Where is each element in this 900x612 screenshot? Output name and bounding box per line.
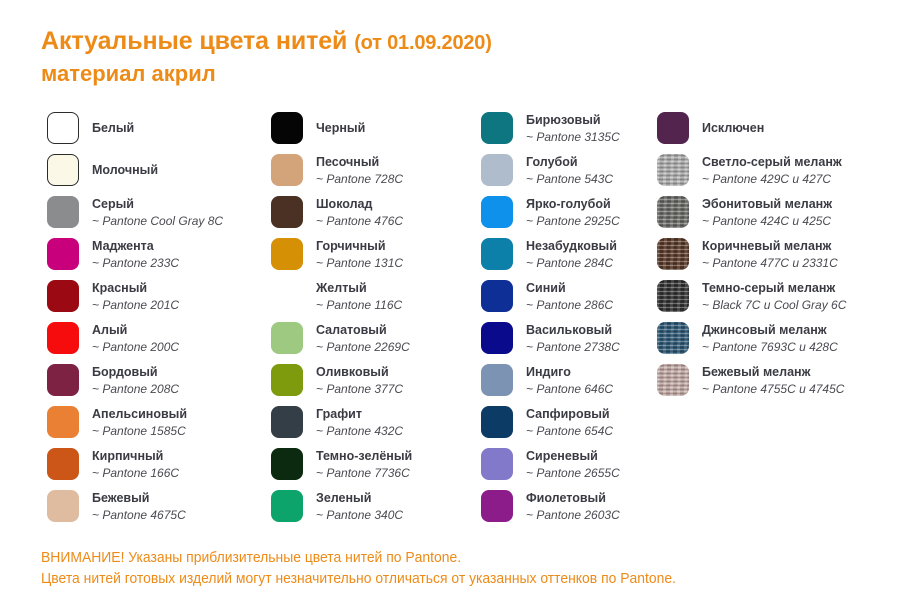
swatch-labels: Красный~ Pantone 201C bbox=[92, 280, 179, 313]
swatch-pantone-code: ~ Pantone 728C bbox=[316, 171, 403, 187]
swatch-name: Голубой bbox=[526, 154, 613, 170]
color-swatch[interactable] bbox=[47, 448, 79, 480]
swatch-row[interactable]: Голубой~ Pantone 543C bbox=[481, 149, 656, 191]
color-swatch[interactable] bbox=[481, 364, 513, 396]
swatch-pantone-code: ~ Pantone 4755C и 4745C bbox=[702, 381, 844, 397]
swatch-pantone-code: ~ Pantone 4675C bbox=[92, 507, 186, 523]
swatch-name: Шоколад bbox=[316, 196, 403, 212]
swatch-row[interactable]: Шоколад~ Pantone 476C bbox=[271, 191, 476, 233]
swatch-labels: Синий~ Pantone 286C bbox=[526, 280, 613, 313]
swatch-labels: Светло-серый меланж~ Pantone 429C и 427C bbox=[702, 154, 842, 187]
color-swatch[interactable] bbox=[481, 112, 513, 144]
swatch-pantone-code: ~ Pantone 477C и 2331C bbox=[702, 255, 838, 271]
swatch-name: Индиго bbox=[526, 364, 613, 380]
swatch-name: Синий bbox=[526, 280, 613, 296]
swatch-labels: Бирюзовый~ Pantone 3135C bbox=[526, 112, 620, 145]
swatch-pantone-code: ~ Pantone 432C bbox=[316, 423, 403, 439]
swatch-labels: Сиреневый~ Pantone 2655C bbox=[526, 448, 620, 481]
swatch-name: Эбонитовый меланж bbox=[702, 196, 832, 212]
color-swatch[interactable] bbox=[47, 196, 79, 228]
swatch-labels: Зеленый~ Pantone 340C bbox=[316, 490, 403, 523]
swatch-labels: Незабудковый~ Pantone 284C bbox=[526, 238, 617, 271]
swatch-labels: Желтый~ Pantone 116C bbox=[316, 280, 402, 313]
swatch-name: Горчичный bbox=[316, 238, 403, 254]
swatch-name: Черный bbox=[316, 120, 365, 136]
swatch-pantone-code: ~ Pantone 2655C bbox=[526, 465, 620, 481]
swatch-pantone-code: ~ Pantone 2738C bbox=[526, 339, 620, 355]
color-swatch[interactable] bbox=[47, 280, 79, 312]
swatch-row[interactable]: Джинсовый меланж~ Pantone 7693C и 428C bbox=[657, 317, 897, 359]
swatch-row[interactable]: Горчичный~ Pantone 131C bbox=[271, 233, 476, 275]
swatch-labels: Сапфировый~ Pantone 654C bbox=[526, 406, 613, 439]
color-swatch[interactable] bbox=[271, 448, 303, 480]
color-swatch[interactable] bbox=[657, 196, 689, 228]
swatch-labels: Темно-зелёный~ Pantone 7736C bbox=[316, 448, 412, 481]
swatch-name: Темно-зелёный bbox=[316, 448, 412, 464]
color-swatch[interactable] bbox=[47, 154, 79, 186]
page-title-date: (от 01.09.2020) bbox=[354, 32, 492, 54]
footer-warning-line-1: ВНИМАНИЕ! Указаны приблизительные цвета … bbox=[41, 548, 838, 569]
swatch-name: Белый bbox=[92, 120, 134, 136]
swatch-row[interactable]: Бордовый~ Pantone 208C bbox=[47, 359, 262, 401]
swatch-row[interactable]: Маджента~ Pantone 233C bbox=[47, 233, 262, 275]
swatch-labels: Горчичный~ Pantone 131C bbox=[316, 238, 403, 271]
swatch-row[interactable]: Красный~ Pantone 201C bbox=[47, 275, 262, 317]
swatch-name: Маджента bbox=[92, 238, 179, 254]
swatch-row[interactable]: Эбонитовый меланж~ Pantone 424C и 425C bbox=[657, 191, 897, 233]
color-swatch[interactable] bbox=[271, 280, 303, 312]
swatch-labels: Индиго~ Pantone 646C bbox=[526, 364, 613, 397]
swatch-row[interactable]: Исключен bbox=[657, 107, 897, 149]
page-title: Актуальные цвета нитей (от 01.09.2020) bbox=[41, 27, 861, 58]
color-swatch[interactable] bbox=[481, 238, 513, 270]
color-swatch[interactable] bbox=[271, 406, 303, 438]
swatch-name: Фиолетовый bbox=[526, 490, 620, 506]
swatch-pantone-code: ~ Pantone 429C и 427C bbox=[702, 171, 842, 187]
page-footer: ВНИМАНИЕ! Указаны приблизительные цвета … bbox=[41, 548, 871, 590]
swatch-name: Светло-серый меланж bbox=[702, 154, 842, 170]
swatch-row[interactable]: Фиолетовый~ Pantone 2603C bbox=[481, 485, 656, 527]
page-title-main: Актуальные цвета нитей bbox=[41, 27, 347, 55]
swatch-labels: Песочный~ Pantone 728C bbox=[316, 154, 403, 187]
swatch-pantone-code: ~ Pantone 646C bbox=[526, 381, 613, 397]
swatch-name: Алый bbox=[92, 322, 179, 338]
swatch-pantone-code: ~ Pantone 424C и 425C bbox=[702, 213, 832, 229]
swatch-pantone-code: ~ Pantone 2269C bbox=[316, 339, 410, 355]
swatch-name: Сапфировый bbox=[526, 406, 613, 422]
swatch-pantone-code: ~ Pantone 1585C bbox=[92, 423, 187, 439]
footer-warning-line-2: Цвета нитей готовых изделий могут незнач… bbox=[41, 569, 838, 590]
swatch-row[interactable]: Бежевый меланж~ Pantone 4755C и 4745C bbox=[657, 359, 897, 401]
swatch-name: Красный bbox=[92, 280, 179, 296]
swatch-pantone-code: ~ Pantone 340C bbox=[316, 507, 403, 523]
color-swatch[interactable] bbox=[47, 490, 79, 522]
color-swatch[interactable] bbox=[657, 280, 689, 312]
color-swatch[interactable] bbox=[47, 322, 79, 354]
swatch-pantone-code: ~ Pantone 377C bbox=[316, 381, 403, 397]
swatch-labels: Алый~ Pantone 200C bbox=[92, 322, 179, 355]
swatch-pantone-code: ~ Pantone 208C bbox=[92, 381, 179, 397]
swatch-name: Бирюзовый bbox=[526, 112, 620, 128]
swatch-name: Молочный bbox=[92, 162, 158, 178]
swatch-labels: Графит~ Pantone 432C bbox=[316, 406, 403, 439]
swatch-pantone-code: ~ Pantone 2603C bbox=[526, 507, 620, 523]
swatch-row[interactable]: Зеленый~ Pantone 340C bbox=[271, 485, 476, 527]
swatch-row[interactable]: Индиго~ Pantone 646C bbox=[481, 359, 656, 401]
color-swatch[interactable] bbox=[657, 112, 689, 144]
swatch-name: Темно-серый меланж bbox=[702, 280, 846, 296]
swatch-name: Оливковый bbox=[316, 364, 403, 380]
swatch-name: Бежевый bbox=[92, 490, 186, 506]
swatch-pantone-code: ~ Pantone 286C bbox=[526, 297, 613, 313]
swatch-row[interactable]: Коричневый меланж~ Pantone 477C и 2331C bbox=[657, 233, 897, 275]
swatch-row[interactable]: Серый~ Pantone Cool Gray 8C bbox=[47, 191, 262, 233]
color-swatch[interactable] bbox=[271, 196, 303, 228]
swatch-pantone-code: ~ Pantone Cool Gray 8C bbox=[92, 213, 223, 229]
swatch-labels: Васильковый~ Pantone 2738C bbox=[526, 322, 620, 355]
color-swatch[interactable] bbox=[657, 238, 689, 270]
swatch-column-3: Бирюзовый~ Pantone 3135CГолубой~ Pantone… bbox=[481, 107, 656, 527]
swatch-row[interactable]: Молочный bbox=[47, 149, 262, 191]
color-swatch[interactable] bbox=[271, 238, 303, 270]
swatch-name: Джинсовый меланж bbox=[702, 322, 838, 338]
color-swatch[interactable] bbox=[271, 154, 303, 186]
color-swatch[interactable] bbox=[47, 406, 79, 438]
swatch-row[interactable]: Песочный~ Pantone 728C bbox=[271, 149, 476, 191]
color-swatch[interactable] bbox=[271, 112, 303, 144]
swatch-name: Коричневый меланж bbox=[702, 238, 838, 254]
swatch-row[interactable]: Незабудковый~ Pantone 284C bbox=[481, 233, 656, 275]
swatch-pantone-code: ~ Pantone 201C bbox=[92, 297, 179, 313]
swatch-labels: Молочный bbox=[92, 162, 158, 178]
swatch-pantone-code: ~ Pantone 3135C bbox=[526, 129, 620, 145]
swatch-name: Серый bbox=[92, 196, 223, 212]
swatch-pantone-code: ~ Pantone 476C bbox=[316, 213, 403, 229]
swatch-pantone-code: ~ Black 7C и Cool Gray 6C bbox=[702, 297, 846, 313]
swatch-pantone-code: ~ Pantone 284C bbox=[526, 255, 617, 271]
swatch-pantone-code: ~ Pantone 7693C и 428C bbox=[702, 339, 838, 355]
swatch-row[interactable]: Светло-серый меланж~ Pantone 429C и 427C bbox=[657, 149, 897, 191]
swatch-pantone-code: ~ Pantone 543C bbox=[526, 171, 613, 187]
swatch-pantone-code: ~ Pantone 2925C bbox=[526, 213, 620, 229]
swatch-pantone-code: ~ Pantone 200C bbox=[92, 339, 179, 355]
color-chart-page: Актуальные цвета нитей (от 01.09.2020) м… bbox=[0, 0, 900, 612]
swatch-labels: Бежевый меланж~ Pantone 4755C и 4745C bbox=[702, 364, 844, 397]
color-swatch[interactable] bbox=[481, 154, 513, 186]
swatch-labels: Голубой~ Pantone 543C bbox=[526, 154, 613, 187]
page-subtitle: материал акрил bbox=[41, 60, 861, 87]
swatch-labels: Кирпичный~ Pantone 166C bbox=[92, 448, 179, 481]
swatch-labels: Коричневый меланж~ Pantone 477C и 2331C bbox=[702, 238, 838, 271]
swatch-name: Бордовый bbox=[92, 364, 179, 380]
page-header: Актуальные цвета нитей (от 01.09.2020) м… bbox=[41, 27, 861, 87]
swatch-row[interactable]: Кирпичный~ Pantone 166C bbox=[47, 443, 262, 485]
color-swatch[interactable] bbox=[481, 322, 513, 354]
swatch-name: Графит bbox=[316, 406, 403, 422]
swatch-name: Сиреневый bbox=[526, 448, 620, 464]
color-swatch[interactable] bbox=[271, 490, 303, 522]
swatch-name: Желтый bbox=[316, 280, 402, 296]
swatch-row[interactable]: Салатовый~ Pantone 2269C bbox=[271, 317, 476, 359]
color-swatch[interactable] bbox=[271, 364, 303, 396]
color-swatch[interactable] bbox=[657, 322, 689, 354]
swatch-row[interactable]: Бирюзовый~ Pantone 3135C bbox=[481, 107, 656, 149]
swatch-labels: Ярко-голубой~ Pantone 2925C bbox=[526, 196, 620, 229]
swatch-labels: Фиолетовый~ Pantone 2603C bbox=[526, 490, 620, 523]
swatch-row[interactable]: Оливковый~ Pantone 377C bbox=[271, 359, 476, 401]
color-swatch[interactable] bbox=[481, 196, 513, 228]
color-swatch[interactable] bbox=[481, 490, 513, 522]
swatch-pantone-code: ~ Pantone 654C bbox=[526, 423, 613, 439]
swatch-pantone-code: ~ Pantone 131C bbox=[316, 255, 403, 271]
swatch-labels: Белый bbox=[92, 120, 134, 136]
swatch-name: Исключен bbox=[702, 120, 764, 136]
swatch-labels: Бежевый~ Pantone 4675C bbox=[92, 490, 186, 523]
swatch-labels: Оливковый~ Pantone 377C bbox=[316, 364, 403, 397]
swatch-row[interactable]: Сиреневый~ Pantone 2655C bbox=[481, 443, 656, 485]
swatch-name: Салатовый bbox=[316, 322, 410, 338]
swatch-column-4: ИсключенСветло-серый меланж~ Pantone 429… bbox=[657, 107, 897, 401]
swatch-row[interactable]: Бежевый~ Pantone 4675C bbox=[47, 485, 262, 527]
swatch-name: Кирпичный bbox=[92, 448, 179, 464]
swatch-labels: Шоколад~ Pantone 476C bbox=[316, 196, 403, 229]
swatch-row[interactable]: Черный bbox=[271, 107, 476, 149]
swatch-row[interactable]: Графит~ Pantone 432C bbox=[271, 401, 476, 443]
color-swatch[interactable] bbox=[657, 154, 689, 186]
color-swatch[interactable] bbox=[481, 448, 513, 480]
swatch-labels: Маджента~ Pantone 233C bbox=[92, 238, 179, 271]
swatch-row[interactable]: Белый bbox=[47, 107, 262, 149]
swatch-name: Бежевый меланж bbox=[702, 364, 844, 380]
color-swatch[interactable] bbox=[481, 280, 513, 312]
swatch-row[interactable]: Синий~ Pantone 286C bbox=[481, 275, 656, 317]
swatch-row[interactable]: Желтый~ Pantone 116C bbox=[271, 275, 476, 317]
color-swatch[interactable] bbox=[481, 406, 513, 438]
swatch-name: Песочный bbox=[316, 154, 403, 170]
swatch-name: Незабудковый bbox=[526, 238, 617, 254]
swatch-row[interactable]: Темно-зелёный~ Pantone 7736C bbox=[271, 443, 476, 485]
swatch-name: Зеленый bbox=[316, 490, 403, 506]
swatch-labels: Джинсовый меланж~ Pantone 7693C и 428C bbox=[702, 322, 838, 355]
swatch-row[interactable]: Сапфировый~ Pantone 654C bbox=[481, 401, 656, 443]
swatch-row[interactable]: Темно-серый меланж~ Black 7C и Cool Gray… bbox=[657, 275, 897, 317]
swatch-row[interactable]: Васильковый~ Pantone 2738C bbox=[481, 317, 656, 359]
swatch-labels: Бордовый~ Pantone 208C bbox=[92, 364, 179, 397]
swatch-labels: Серый~ Pantone Cool Gray 8C bbox=[92, 196, 223, 229]
swatch-labels: Апельсиновый~ Pantone 1585C bbox=[92, 406, 187, 439]
swatch-name: Ярко-голубой bbox=[526, 196, 620, 212]
swatch-name: Васильковый bbox=[526, 322, 620, 338]
swatch-name: Апельсиновый bbox=[92, 406, 187, 422]
swatch-labels: Черный bbox=[316, 120, 365, 136]
color-swatch-grid: БелыйМолочныйСерый~ Pantone Cool Gray 8C… bbox=[0, 107, 900, 527]
swatch-column-1: БелыйМолочныйСерый~ Pantone Cool Gray 8C… bbox=[47, 107, 262, 527]
color-swatch[interactable] bbox=[47, 238, 79, 270]
swatch-row[interactable]: Ярко-голубой~ Pantone 2925C bbox=[481, 191, 656, 233]
swatch-labels: Исключен bbox=[702, 120, 764, 136]
color-swatch[interactable] bbox=[47, 364, 79, 396]
swatch-column-2: ЧерныйПесочный~ Pantone 728CШоколад~ Pan… bbox=[271, 107, 476, 527]
swatch-labels: Салатовый~ Pantone 2269C bbox=[316, 322, 410, 355]
color-swatch[interactable] bbox=[657, 364, 689, 396]
swatch-pantone-code: ~ Pantone 7736C bbox=[316, 465, 412, 481]
swatch-row[interactable]: Апельсиновый~ Pantone 1585C bbox=[47, 401, 262, 443]
swatch-labels: Темно-серый меланж~ Black 7C и Cool Gray… bbox=[702, 280, 846, 313]
swatch-row[interactable]: Алый~ Pantone 200C bbox=[47, 317, 262, 359]
swatch-pantone-code: ~ Pantone 116C bbox=[316, 297, 402, 313]
color-swatch[interactable] bbox=[47, 112, 79, 144]
swatch-pantone-code: ~ Pantone 166C bbox=[92, 465, 179, 481]
swatch-pantone-code: ~ Pantone 233C bbox=[92, 255, 179, 271]
color-swatch[interactable] bbox=[271, 322, 303, 354]
swatch-labels: Эбонитовый меланж~ Pantone 424C и 425C bbox=[702, 196, 832, 229]
